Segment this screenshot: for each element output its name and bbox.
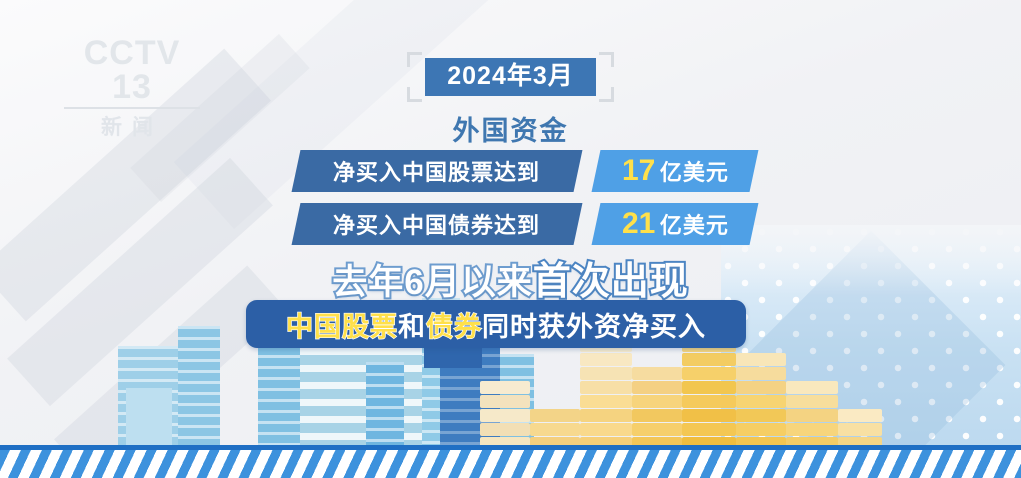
emphasis-line-part1: 去年6月以来: [332, 263, 532, 302]
building-windows: [366, 362, 404, 450]
coin-stack-1: [480, 370, 530, 450]
stat-row-bonds-value-group: 21 亿美元: [622, 207, 729, 241]
coin: [786, 409, 838, 422]
coin: [580, 409, 632, 422]
coin: [580, 367, 632, 380]
stat-row-stocks-value-group: 17 亿美元: [622, 154, 729, 188]
conclusion-banner: 中国股票 和 债券 同时获外资净买入: [246, 300, 746, 348]
stat-row-stocks-label: 净买入中国股票达到: [333, 155, 540, 187]
coin: [736, 423, 786, 436]
banner-segment-and: 和: [398, 305, 426, 344]
coin: [632, 409, 682, 422]
broadcast-infographic: CCTV 13 新闻 2024年3月 外国资金 净买入中国股票达到 17 亿美元…: [0, 0, 1021, 478]
bracket-bottom-right: [599, 87, 614, 102]
date-badge-wrapper: 2024年3月: [407, 52, 614, 102]
coin: [480, 409, 530, 422]
headline-subject: 外国资金: [0, 109, 1021, 148]
bracket-top-right: [599, 52, 614, 67]
coin: [682, 395, 736, 408]
emphasis-line-part2: 首次出现: [533, 261, 689, 303]
building-8: [126, 388, 172, 450]
stat-row-stocks-value: 17: [622, 154, 655, 187]
coin: [632, 381, 682, 394]
emphasis-line: 去年6月以来首次出现: [0, 250, 1021, 305]
coin: [480, 423, 530, 436]
stat-row-stocks-label-shape: 净买入中国股票达到: [292, 150, 583, 192]
coin: [736, 367, 786, 380]
coin: [736, 395, 786, 408]
coin: [580, 423, 632, 436]
stat-row-bonds-label-shape: 净买入中国债券达到: [292, 203, 583, 245]
coin: [786, 381, 838, 394]
bracket-top-left: [407, 52, 422, 67]
coin: [632, 423, 682, 436]
banner-segment-stocks: 中国股票: [286, 305, 398, 344]
coin: [682, 409, 736, 422]
coin: [632, 367, 682, 380]
coin-stack-7: [786, 368, 838, 450]
coin: [838, 409, 882, 422]
diagonal-stripe-footer: [0, 445, 1021, 478]
coin-stack-2: [530, 398, 580, 450]
building-windows: [178, 326, 220, 450]
coin: [682, 381, 736, 394]
building-2: [178, 326, 220, 450]
stat-row-bonds-unit: 亿美元: [659, 213, 728, 238]
coin-stack-4: [632, 354, 682, 450]
coin-stack-8: [838, 396, 882, 450]
bracket-bottom-left: [407, 87, 422, 102]
coin: [682, 367, 736, 380]
coin: [736, 353, 786, 366]
coin-stack-6: [736, 342, 786, 450]
coin: [786, 423, 838, 436]
coin: [632, 395, 682, 408]
building-9: [366, 362, 404, 450]
stat-row-bonds-value: 21: [622, 207, 655, 240]
coin: [736, 409, 786, 422]
coin: [480, 395, 530, 408]
headline-group: 2024年3月 外国资金: [0, 52, 1021, 148]
date-badge: 2024年3月: [425, 58, 596, 96]
banner-segment-bonds: 债券: [426, 305, 482, 344]
coin: [530, 409, 580, 422]
stat-row-stocks-unit: 亿美元: [659, 160, 728, 185]
coin: [580, 381, 632, 394]
coin: [682, 423, 736, 436]
stat-row-bonds-value-shape: 21 亿美元: [592, 203, 759, 245]
coin: [682, 353, 736, 366]
stat-row-bonds: 净买入中国债券达到 21 亿美元: [0, 203, 1021, 245]
coin: [580, 395, 632, 408]
stat-row-stocks: 净买入中国股票达到 17 亿美元: [0, 150, 1021, 192]
coin: [786, 395, 838, 408]
stat-row-stocks-value-shape: 17 亿美元: [592, 150, 759, 192]
banner-segment-tail: 同时获外资净买入: [482, 305, 706, 344]
coin: [580, 353, 632, 366]
coin: [736, 381, 786, 394]
stat-row-bonds-label: 净买入中国债券达到: [333, 208, 540, 240]
coin: [530, 423, 580, 436]
coin: [480, 381, 530, 394]
coin: [838, 423, 882, 436]
